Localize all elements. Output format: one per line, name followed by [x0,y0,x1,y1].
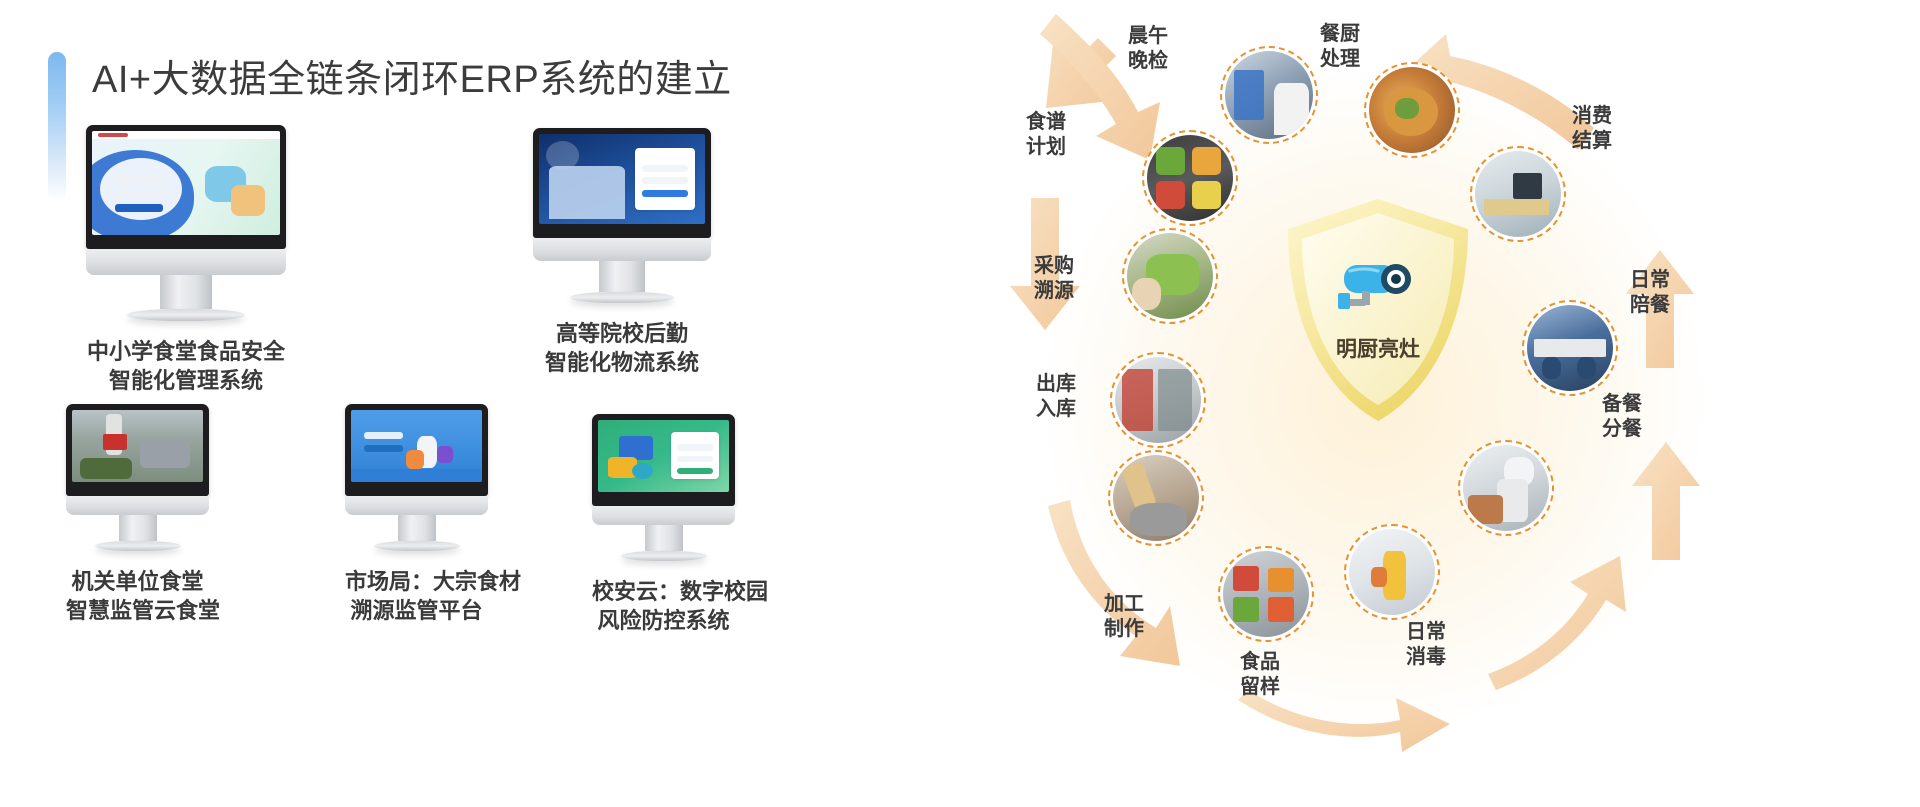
photo-detail [1234,70,1264,119]
node-photo [1113,455,1199,541]
screen-illustration-accent [406,450,424,469]
monitor-neck [599,261,645,292]
photo-detail [1513,173,1542,199]
product-card-k12-canteen[interactable]: 中小学食堂食品安全 智能化管理系统 [86,125,286,395]
node-label-food-sample-retention: 食品 留样 [1240,650,1280,700]
photo-detail [1156,147,1185,175]
label-line-1: 加工 [1104,592,1144,617]
node-daily-accompany-dining[interactable] [1522,300,1618,396]
screen-login-button [115,204,164,212]
label-line-2: 陪餐 [1630,293,1670,318]
monitor-chin [66,496,209,515]
node-label-morning-noon-night-check: 晨午 晚检 [1128,24,1168,74]
product-card-market-bureau[interactable]: 市场局：大宗食材 溯源监管平台 [345,404,488,625]
node-label-menu-planning: 食谱 计划 [1026,110,1066,160]
label-line-1: 采购 [1034,254,1074,279]
photo-detail-3 [1468,495,1502,524]
node-label-daily-accompany-dining: 日常 陪餐 [1630,268,1670,318]
monitor-chin [533,238,711,261]
screen-login-button [677,468,714,474]
photo-detail [1122,369,1153,431]
node-label-daily-disinfection: 日常 消毒 [1406,620,1446,670]
screen-input-pass [115,189,164,197]
label-line-2: 留样 [1240,675,1280,700]
slide-canvas: AI+大数据全链条闭环ERP系统的建立 [0,0,1920,807]
screen-input-pass [677,456,714,462]
screen-input-user [364,432,403,439]
screen-illustration-2 [231,185,265,216]
products-panel: AI+大数据全链条闭环ERP系统的建立 [0,0,930,807]
photo-detail-2 [1158,369,1192,431]
photo-detail-2 [1542,357,1561,379]
node-outbound-inbound[interactable] [1110,352,1206,448]
screen-input-user [642,165,688,172]
monitor-foot [374,541,460,551]
node-procurement-traceability[interactable] [1122,228,1218,324]
screen-photo-people [140,439,190,468]
monitor-chin [345,496,488,515]
screen-building-graphic [549,166,625,218]
label-line-1: 晨午 [1128,24,1168,49]
photo-detail-2 [1274,83,1309,136]
node-photo [1147,135,1233,221]
node-photo [1223,551,1309,637]
label-line-2: 入库 [1036,397,1076,422]
monitor-screen [72,410,203,482]
caption-line-1: 高等院校后勤 [533,319,711,348]
node-label-meal-prep-portioning: 备餐 分餐 [1602,392,1642,442]
monitor-foot [570,292,674,303]
photo-detail-2 [1371,567,1386,588]
label-line-1: 消费 [1572,104,1612,129]
monitor-screen [351,410,482,482]
caption-line-1: 机关单位食堂 [66,567,209,596]
caption-line-2: 溯源监管平台 [345,596,488,625]
product-caption: 中小学食堂食品安全 智能化管理系统 [86,337,286,395]
monitor-foot [95,541,181,551]
monitor-mockup [533,128,711,303]
monitor-bezel [345,404,488,496]
node-food-sample-retention[interactable] [1218,546,1314,642]
monitor-foot [127,309,245,321]
monitor-chin [592,506,735,525]
screen-photo-banner [103,434,127,450]
node-photo [1369,67,1455,153]
label-line-2: 计划 [1026,135,1066,160]
label-line-2: 溯源 [1034,279,1074,304]
page-title: AI+大数据全链条闭环ERP系统的建立 [92,48,732,103]
caption-line-2: 智能化管理系统 [86,366,286,395]
monitor-mockup [345,404,488,551]
monitor-screen [539,134,705,224]
caption-line-1: 校安云：数字校园 [592,577,735,606]
label-line-2: 制作 [1104,617,1144,642]
node-photo [1115,357,1201,443]
arrow-meal-prep [1632,442,1700,560]
node-label-consumption-settlement: 消费 结算 [1572,104,1612,154]
monitor-foot [621,551,707,561]
node-menu-planning[interactable] [1142,130,1238,226]
label-line-1: 日常 [1630,268,1670,293]
screen-login-button [364,445,403,452]
product-caption: 机关单位食堂 智慧监管云食堂 [66,567,209,625]
screen-logo [98,133,128,137]
caption-line-2: 风险防控系统 [592,606,735,635]
label-line-1: 出库 [1036,372,1076,397]
node-processing-production[interactable] [1108,450,1204,546]
monitor-chin [86,249,286,275]
node-label-procurement-traceability: 采购 溯源 [1034,254,1074,304]
label-line-2: 分餐 [1602,417,1642,442]
label-line-1: 食谱 [1026,110,1066,135]
label-line-1: 日常 [1406,620,1446,645]
node-photo [1475,151,1561,237]
arrow-disinfection [1488,556,1626,690]
node-daily-disinfection[interactable] [1344,524,1440,620]
monitor-bezel [533,128,711,238]
shield-label: 明厨亮灶 [1282,333,1474,363]
product-caption: 校安云：数字校园 风险防控系统 [592,577,735,635]
monitor-mockup [66,404,209,551]
photo-detail [1534,339,1606,356]
monitor-mockup [592,414,735,561]
monitor-screen [598,420,729,492]
node-morning-noon-night-check[interactable] [1220,46,1318,144]
photo-detail-2 [1395,98,1419,119]
caption-line-1: 市场局：大宗食材 [345,567,488,596]
label-line-1: 餐厨 [1320,22,1360,47]
node-kitchen-waste-handling[interactable] [1364,62,1460,158]
screen-input-pass [642,177,688,184]
photo-detail-2 [1192,147,1221,175]
photo-detail-4 [1192,181,1221,209]
photo-detail-2 [1130,503,1187,536]
monitor-neck [645,525,683,551]
node-photo [1127,233,1213,319]
node-meal-prep-portioning[interactable] [1458,440,1554,536]
node-photo [1463,445,1549,531]
photo-detail-3 [1577,357,1596,379]
monitor-bezel [592,414,735,506]
screen-floor [351,469,482,482]
node-label-outbound-inbound: 出库 入库 [1036,372,1076,422]
caption-line-2: 智能化物流系统 [533,348,711,377]
monitor-screen [92,131,280,235]
node-label-processing-production: 加工 制作 [1104,592,1144,642]
photo-detail-2 [1484,199,1549,214]
monitor-neck [160,275,212,309]
center-shield[interactable]: 明厨亮灶 [1282,195,1474,427]
photo-detail-4 [1268,597,1294,621]
caption-line-1: 中小学食堂食品安全 [86,337,286,366]
screen-photo-greenery [80,458,132,480]
screen-login-button [642,190,688,197]
product-card-gov-canteen[interactable]: 机关单位食堂 智慧监管云食堂 [66,404,209,625]
screen-input-user [115,175,164,183]
caption-line-2: 智慧监管云食堂 [66,596,209,625]
node-label-kitchen-waste-handling: 餐厨 处理 [1320,22,1360,72]
product-caption: 市场局：大宗食材 溯源监管平台 [345,567,488,625]
security-camera-icon [1328,251,1428,323]
label-line-2: 处理 [1320,47,1360,72]
product-caption: 高等院校后勤 智能化物流系统 [533,319,711,377]
product-card-higher-ed-logistics[interactable]: 高等院校后勤 智能化物流系统 [533,128,711,377]
photo-detail-2 [1268,568,1294,592]
screen-illustration-accent-2 [437,446,453,463]
label-line-1: 食品 [1240,650,1280,675]
label-line-2: 晚检 [1128,49,1168,74]
node-consumption-settlement[interactable] [1470,146,1566,242]
monitor-mockup [86,125,286,321]
node-photo [1225,51,1313,139]
photo-detail-2 [1132,278,1161,311]
photo-detail-3 [1156,181,1185,209]
screen-illustration-accent-2 [632,463,653,479]
node-photo [1527,305,1613,391]
label-line-2: 结算 [1572,129,1612,154]
product-card-campus-cloud[interactable]: 校安云：数字校园 风险防控系统 [592,414,735,635]
monitor-bezel [86,125,286,249]
photo-detail [1233,566,1259,590]
photo-detail-3 [1233,597,1259,621]
node-photo [1349,529,1435,615]
screen-input-user [677,444,714,450]
monitor-neck [398,515,436,541]
label-line-1: 备餐 [1602,392,1642,417]
label-line-2: 消毒 [1406,645,1446,670]
monitor-bezel [66,404,209,496]
monitor-neck [119,515,157,541]
title-accent-bar [48,52,66,202]
process-diagram-panel: 晨午 晚检 餐厨 处理 消费 结算 [930,0,1920,807]
